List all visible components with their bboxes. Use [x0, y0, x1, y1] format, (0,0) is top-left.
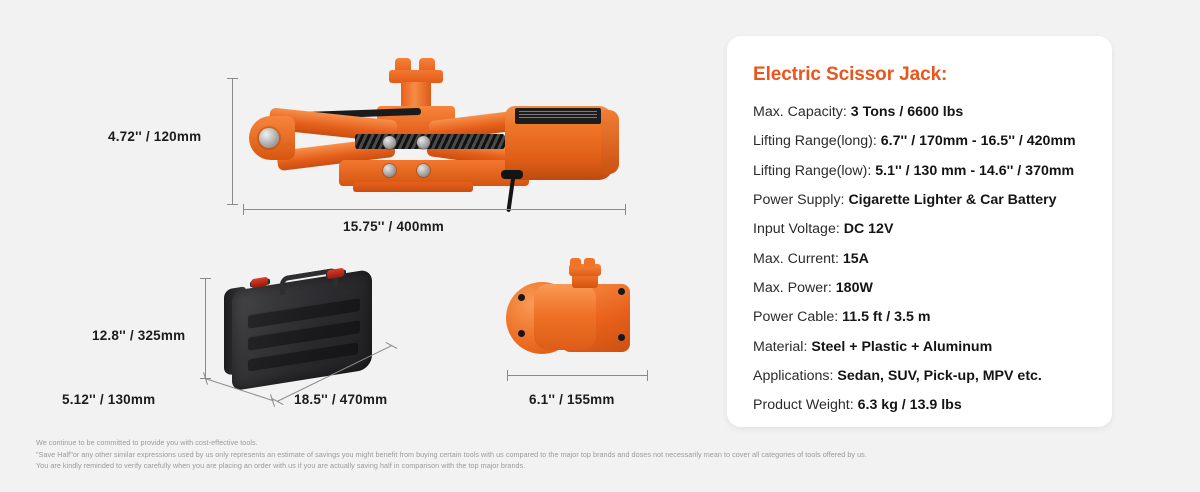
endview-bolt-4: [618, 334, 625, 341]
jack-height-dimension-line: [232, 78, 233, 204]
spec-value: Cigarette Lighter & Car Battery: [848, 192, 1056, 208]
spec-key: Max. Current:: [753, 251, 839, 267]
endview-saddle-nub-right: [584, 258, 595, 267]
spec-key: Product Weight:: [753, 397, 854, 413]
endview-bolt-2: [518, 330, 525, 337]
endview-saddle-nub-left: [570, 258, 581, 267]
jack-motor-label: [515, 108, 601, 124]
disclaimer-footer: We continue to be committed to provide y…: [36, 437, 1166, 472]
endview-drum: [534, 284, 596, 350]
spec-row-lifting-range-low: Lifting Range(low): 5.1'' / 130 mm - 14.…: [753, 163, 1086, 179]
jack-left-pivot-bolt: [259, 128, 279, 148]
spec-row-applications: Applications: Sedan, SUV, Pick-up, MPV e…: [753, 368, 1086, 384]
jack-saddle-neck: [401, 82, 431, 108]
spec-value: 6.3 kg / 13.9 lbs: [858, 397, 962, 413]
jack-bolt-2: [417, 136, 430, 149]
disclaimer-line-3: You are kindly reminded to verify carefu…: [36, 460, 1166, 472]
case-width-label: 18.5'' / 470mm: [294, 392, 387, 407]
carrying-case-illustration: [222, 268, 394, 394]
case-height-label: 12.8'' / 325mm: [92, 328, 185, 343]
spec-value: 3 Tons / 6600 lbs: [851, 104, 964, 120]
spec-row-material: Material: Steel + Plastic + Aluminum: [753, 339, 1086, 355]
jack-length-dimension-line: [243, 209, 625, 210]
jack-bolt-1: [383, 136, 396, 149]
spec-key: Max. Power:: [753, 280, 832, 296]
spec-value: 15A: [843, 251, 869, 267]
spec-value: 180W: [836, 280, 873, 296]
jack-bolt-4: [417, 164, 430, 177]
case-height-dimension-line: [205, 278, 206, 378]
disclaimer-line-2: "Save Half"or any other similar expressi…: [36, 449, 1166, 461]
spec-row-lifting-range-long: Lifting Range(long): 6.7'' / 170mm - 16.…: [753, 133, 1086, 149]
spec-card-title: Electric Scissor Jack:: [753, 64, 1086, 86]
disclaimer-line-1: We continue to be committed to provide y…: [36, 437, 1166, 449]
jack-height-cap-top: [227, 78, 238, 79]
product-spec-sheet: 4.72'' / 120mm 15.75'' / 400mm 12.8'' / …: [0, 0, 1200, 492]
spec-row-power-supply: Power Supply: Cigarette Lighter & Car Ba…: [753, 192, 1086, 208]
endview-width-label: 6.1'' / 155mm: [529, 392, 615, 407]
spec-value: Steel + Plastic + Aluminum: [811, 339, 992, 355]
jack-lead-screw: [355, 134, 505, 149]
spec-card: Electric Scissor Jack: Max. Capacity: 3 …: [727, 36, 1112, 427]
endview-bolt-3: [618, 288, 625, 295]
endview-bolt-1: [518, 294, 525, 301]
jack-length-cap-left: [243, 204, 244, 215]
spec-value: DC 12V: [844, 221, 894, 237]
spec-key: Power Supply:: [753, 192, 844, 208]
endview-width-cap-left: [507, 370, 508, 381]
spec-row-max-power: Max. Power: 180W: [753, 280, 1086, 296]
case-height-cap-top: [200, 278, 211, 279]
spec-row-power-cable: Power Cable: 11.5 ft / 3.5 m: [753, 309, 1086, 325]
spec-value: Sedan, SUV, Pick-up, MPV etc.: [837, 368, 1041, 384]
spec-row-input-voltage: Input Voltage: DC 12V: [753, 221, 1086, 237]
spec-key: Material:: [753, 339, 807, 355]
spec-value: 6.7'' / 170mm - 16.5'' / 420mm: [881, 133, 1076, 149]
spec-key: Input Voltage:: [753, 221, 840, 237]
jack-bolt-3: [383, 164, 396, 177]
endview-width-dimension-line: [507, 375, 647, 376]
endview-width-cap-right: [647, 370, 648, 381]
scissor-jack-illustration: [243, 58, 623, 198]
jack-length-cap-right: [625, 204, 626, 215]
spec-key: Lifting Range(low):: [753, 163, 871, 179]
product-diagram-area: 4.72'' / 120mm 15.75'' / 400mm 12.8'' / …: [0, 0, 700, 430]
spec-value: 11.5 ft / 3.5 m: [842, 309, 930, 325]
spec-key: Applications:: [753, 368, 833, 384]
jack-end-view-illustration: [500, 262, 650, 362]
jack-foot: [353, 182, 473, 192]
jack-length-label: 15.75'' / 400mm: [343, 219, 444, 234]
spec-key: Lifting Range(long):: [753, 133, 877, 149]
spec-row-product-weight: Product Weight: 6.3 kg / 13.9 lbs: [753, 397, 1086, 413]
spec-row-max-capacity: Max. Capacity: 3 Tons / 6600 lbs: [753, 104, 1086, 120]
jack-motor-end-cap: [601, 110, 619, 174]
spec-key: Power Cable:: [753, 309, 838, 325]
spec-key: Max. Capacity:: [753, 104, 847, 120]
jack-height-label: 4.72'' / 120mm: [108, 129, 201, 144]
spec-row-max-current: Max. Current: 15A: [753, 251, 1086, 267]
spec-value: 5.1'' / 130 mm - 14.6'' / 370mm: [875, 163, 1074, 179]
jack-height-cap-bottom: [227, 204, 238, 205]
case-depth-label: 5.12'' / 130mm: [62, 392, 155, 407]
